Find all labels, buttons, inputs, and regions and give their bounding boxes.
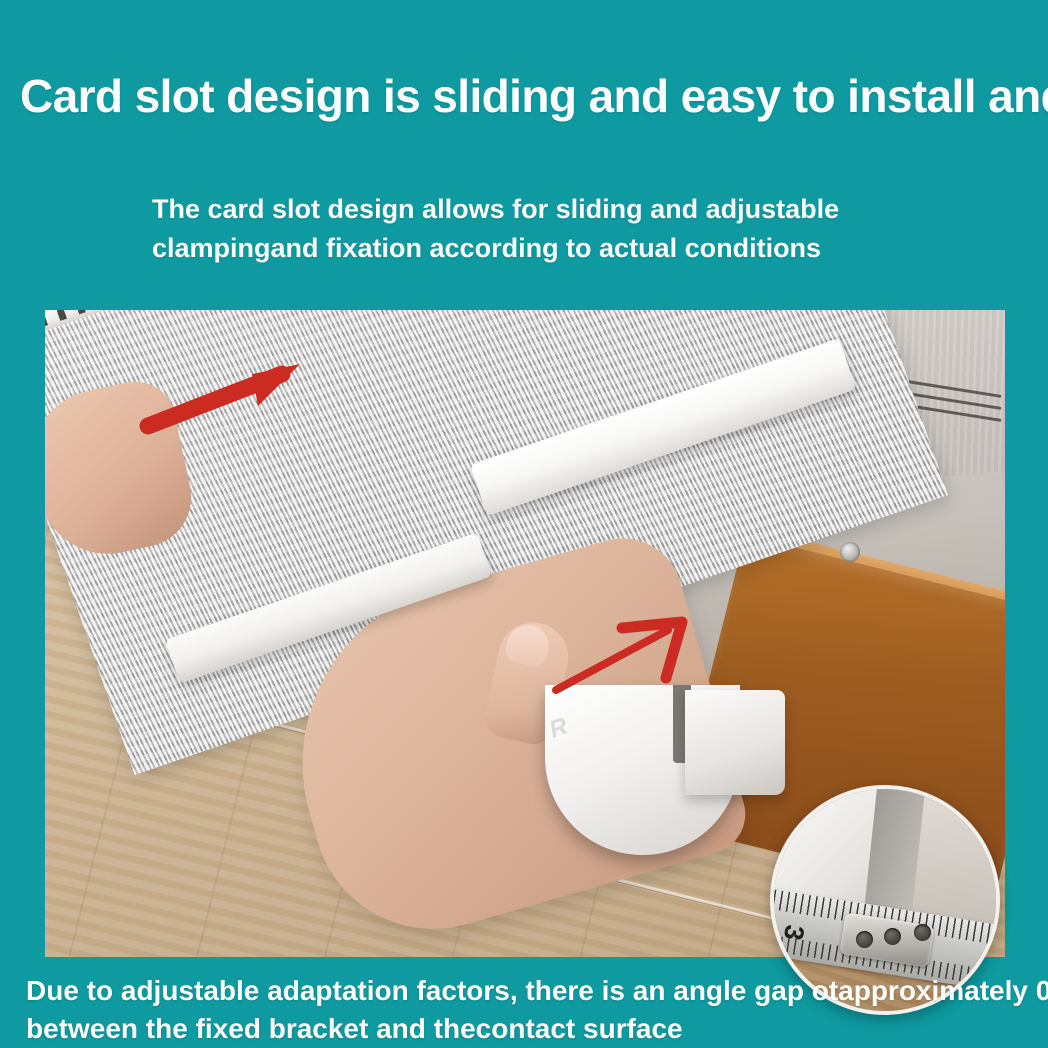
page-title: Card slot design is sliding and easy to … [20, 72, 1036, 120]
subtitle-block: The card slot design allows for sliding … [152, 190, 892, 268]
inset-clip-hole [884, 928, 901, 945]
product-infographic-page: Card slot design is sliding and easy to … [0, 0, 1048, 1048]
screw-icon [840, 542, 860, 562]
caption-line-1: Due to adjustable adaptation factors, th… [26, 972, 1036, 1010]
bottom-caption: Due to adjustable adaptation factors, th… [26, 972, 1036, 1048]
arrow-slide-top-icon [140, 348, 340, 438]
subtitle-line-2: clampingand fixation according to actual… [152, 229, 892, 268]
arrow-slide-bracket-icon [550, 610, 720, 700]
bracket-tab [685, 690, 785, 795]
caption-line-2: between the fixed bracket and thecontact… [26, 1010, 1036, 1048]
subtitle-line-1: The card slot design allows for sliding … [152, 190, 892, 229]
inset-clip-hole [856, 931, 873, 948]
inset-clip-hole [914, 924, 931, 941]
